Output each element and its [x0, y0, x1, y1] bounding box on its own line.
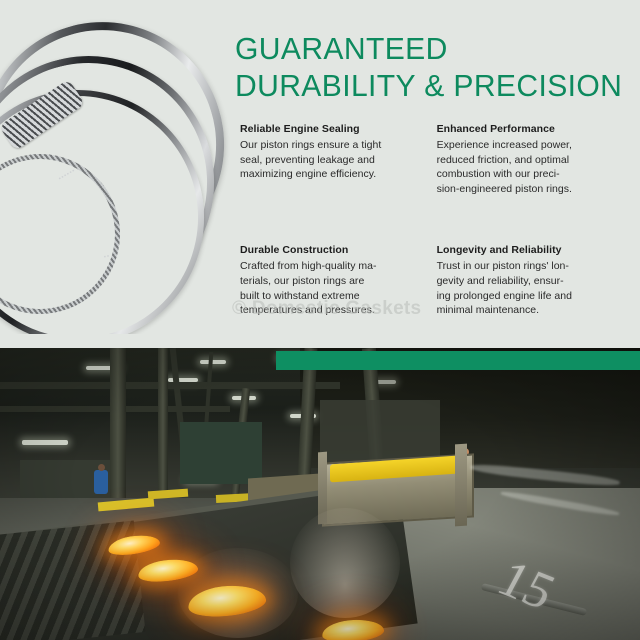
factory-floor-image: 15	[0, 348, 640, 640]
feature-body: Trust in our piston rings' lon- gevity a…	[437, 259, 628, 317]
feature-body-line: maximizing engine efficiency.	[240, 167, 422, 182]
feature-longevity-and-reliability: Longevity and Reliability Trust in our p…	[432, 243, 628, 317]
feature-body-line: sion-engineered piston rings.	[437, 182, 628, 197]
feature-body-line: combustion with our preci-	[437, 167, 628, 182]
headline-line-1: GUARANTEED	[235, 30, 623, 67]
feature-reliable-engine-sealing: Reliable Engine Sealing Our piston rings…	[240, 122, 432, 196]
feature-title: Longevity and Reliability	[437, 243, 628, 258]
feature-body-line: reduced friction, and optimal	[437, 153, 628, 168]
feature-body-line: Trust in our piston rings' lon-	[437, 259, 628, 274]
page-title: GUARANTEED DURABILITY & PRECISION	[235, 30, 635, 104]
feature-body-line: Our piston rings ensure a tight	[240, 138, 422, 153]
feature-title: Reliable Engine Sealing	[240, 122, 422, 137]
green-accent-bar	[276, 351, 640, 370]
feature-body-line: gevity and reliability, ensur-	[437, 274, 628, 289]
feature-body: Our piston rings ensure a tight seal, pr…	[240, 138, 422, 182]
headline-line-2: DURABILITY & PRECISION	[235, 67, 623, 104]
top-info-panel: ▪▪▪ ▪▪▪▪▪▪ ▪▪ GUARANTEED DURABILITY & PR…	[0, 0, 640, 348]
feature-body-line: terials, our piston rings are	[240, 274, 422, 289]
feature-body-line: Experience increased power,	[437, 138, 628, 153]
feature-body: Experience increased power, reduced fric…	[437, 138, 628, 196]
feature-body-line: temperatures and pressures.	[240, 303, 422, 318]
feature-grid: Reliable Engine Sealing Our piston rings…	[240, 122, 628, 318]
feature-row-1: Reliable Engine Sealing Our piston rings…	[240, 122, 628, 196]
feature-durable-construction: Durable Construction Crafted from high-q…	[240, 243, 432, 317]
feature-title: Enhanced Performance	[437, 122, 628, 137]
photo-vignette	[0, 348, 640, 640]
feature-row-2: Durable Construction Crafted from high-q…	[240, 243, 628, 317]
feature-body-line: built to withstand extreme	[240, 289, 422, 304]
feature-body-line: ing prolonged engine life and	[437, 289, 628, 304]
feature-row-spacer	[240, 196, 628, 243]
ring-marking-3: ▪▪	[103, 253, 110, 260]
feature-enhanced-performance: Enhanced Performance Experience increase…	[432, 122, 628, 196]
feature-body: Crafted from high-quality ma- terials, o…	[240, 259, 422, 317]
feature-body-line: minimal maintenance.	[437, 303, 628, 318]
piston-rings-product-image: ▪▪▪ ▪▪▪▪▪▪ ▪▪	[0, 4, 230, 334]
feature-body-line: seal, preventing leakage and	[240, 153, 422, 168]
feature-body-line: Crafted from high-quality ma-	[240, 259, 422, 274]
feature-title: Durable Construction	[240, 243, 422, 258]
promo-graphic: ▪▪▪ ▪▪▪▪▪▪ ▪▪ GUARANTEED DURABILITY & PR…	[0, 0, 640, 640]
